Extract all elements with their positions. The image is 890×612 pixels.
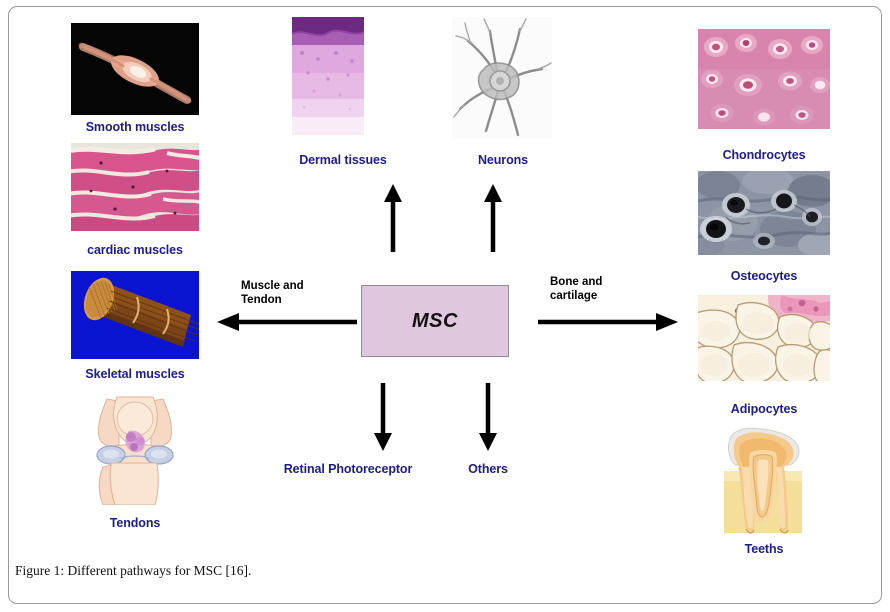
bone-cartilage-pathway-label: Bone and cartilage (550, 275, 602, 303)
cardiac-muscles-label: cardiac muscles (87, 243, 183, 257)
smooth-muscles-label: Smooth muscles (86, 120, 185, 134)
neurons-image (452, 17, 552, 139)
msc-node-label: MSC (362, 286, 508, 356)
smooth-muscles-image (71, 23, 199, 115)
diagram-canvas: Smooth muscles (9, 7, 883, 605)
adipocytes-image (698, 295, 830, 381)
others-label: Others (468, 462, 508, 476)
neurons-label: Neurons (478, 153, 528, 167)
arrow-down-retinal-photoreceptor (370, 383, 396, 451)
skeletal-muscles-image (71, 271, 199, 359)
arrow-right-bone-cartilage (538, 309, 678, 335)
osteocytes-image (698, 171, 830, 255)
msc-node[interactable]: MSC (361, 285, 509, 357)
chondrocytes-image (698, 29, 830, 129)
tendons-label: Tendons (110, 516, 160, 530)
skeletal-muscles-label: Skeletal muscles (85, 367, 184, 381)
osteocytes-label: Osteocytes (731, 269, 797, 283)
teeths-image (712, 427, 814, 537)
arrow-up-neurons (480, 184, 506, 252)
arrow-up-dermal-tissues (380, 184, 406, 252)
cardiac-muscles-image (71, 143, 199, 231)
dermal-tissues-image (292, 17, 364, 135)
arrow-left-muscle-tendon (217, 309, 357, 335)
retinal-photoreceptor-label: Retinal Photoreceptor (284, 462, 412, 476)
teeths-label: Teeths (745, 542, 784, 556)
figure-frame: Smooth muscles (8, 6, 882, 604)
adipocytes-label: Adipocytes (731, 402, 797, 416)
chondrocytes-label: Chondrocytes (723, 148, 806, 162)
arrow-down-others (475, 383, 501, 451)
muscle-tendon-pathway-label: Muscle and Tendon (241, 279, 304, 307)
tendons-image (81, 393, 189, 505)
dermal-tissues-label: Dermal tissues (299, 153, 387, 167)
figure-caption: Figure 1: Different pathways for MSC [16… (15, 563, 251, 579)
